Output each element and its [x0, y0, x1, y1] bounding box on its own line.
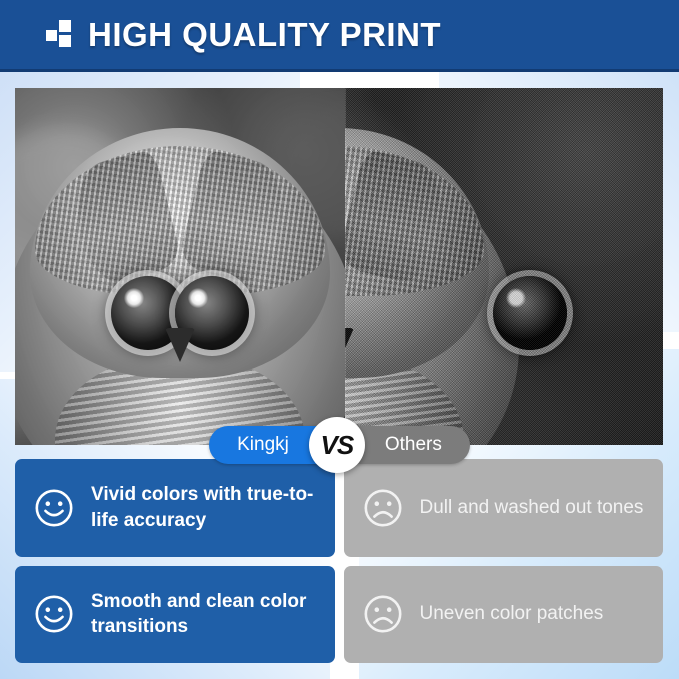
header-banner: HIGH QUALITY PRINT — [0, 0, 679, 72]
comparison-card-good-1: Vivid colors with true-to-life accuracy — [15, 459, 335, 557]
versus-bar: Kingkj VS Others — [0, 421, 679, 469]
comparison-text: Smooth and clean color transitions — [91, 589, 317, 640]
photo-split-divider — [345, 88, 346, 445]
comparison-text: Vivid colors with true-to-life accuracy — [91, 482, 317, 533]
owl-beak — [345, 328, 354, 362]
vs-badge: VS — [309, 417, 365, 473]
photo-half-good — [15, 88, 345, 445]
logo-square-top-right — [59, 20, 71, 32]
sad-face-icon — [362, 487, 404, 529]
comparison-card-bad-1: Dull and washed out tones — [344, 459, 664, 557]
page-title: HIGH QUALITY PRINT — [88, 16, 441, 54]
smiley-face-icon — [33, 487, 75, 529]
logo-square-left — [46, 30, 57, 41]
vs-badge-label: VS — [321, 430, 354, 461]
competitor-label: Others — [385, 434, 442, 456]
sad-face-icon — [362, 593, 404, 635]
comparison-text: Dull and washed out tones — [420, 495, 644, 521]
owl-scene-bad — [345, 88, 663, 445]
owl-beak — [165, 328, 195, 362]
owl-eye-right — [493, 276, 567, 350]
comparison-grid: Vivid colors with true-to-life accuracy … — [15, 459, 663, 663]
squares-logo-icon — [46, 20, 72, 50]
comparison-text: Uneven color patches — [420, 601, 604, 627]
comparison-card-good-2: Smooth and clean color transitions — [15, 566, 335, 664]
logo-square-bottom-right — [59, 35, 71, 47]
owl-scene-good — [15, 88, 345, 445]
smiley-face-icon — [33, 593, 75, 635]
photo-half-bad — [345, 88, 663, 445]
brand-label: Kingkj — [237, 434, 289, 456]
comparison-card-bad-2: Uneven color patches — [344, 566, 664, 664]
owl-comparison-photo — [15, 88, 663, 445]
